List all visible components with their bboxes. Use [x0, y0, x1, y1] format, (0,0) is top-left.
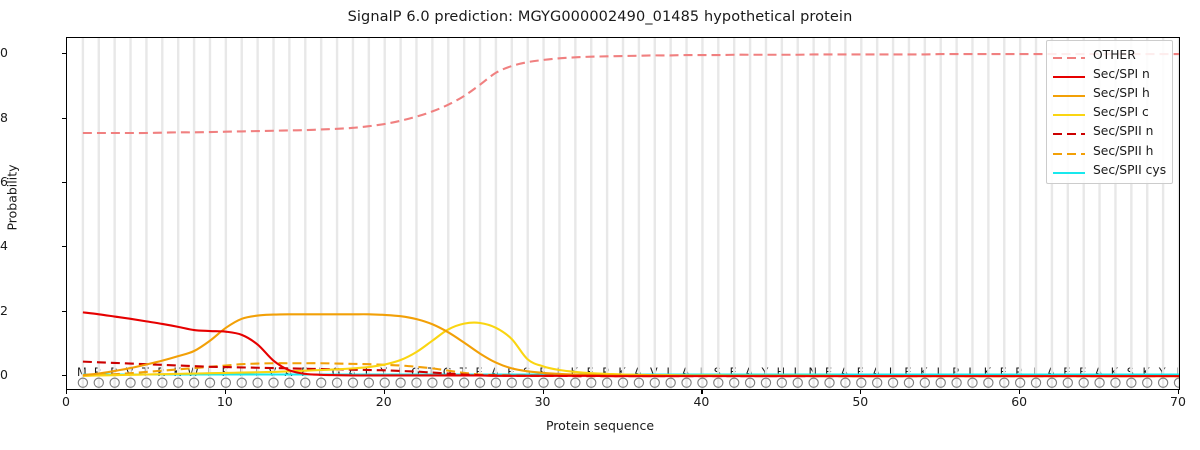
x-tick-mark	[225, 390, 226, 394]
x-tick-label: 50	[830, 394, 890, 409]
chart-title: SignalP 6.0 prediction: MGYG000002490_01…	[0, 9, 1200, 25]
legend-item[interactable]: Sec/SPII h	[1052, 141, 1166, 160]
x-tick-label: 70	[1148, 394, 1200, 409]
legend-label: Sec/SPI h	[1093, 86, 1150, 100]
legend-item[interactable]: Sec/SPII n	[1052, 122, 1166, 141]
series-line	[83, 314, 1179, 376]
x-tick-mark	[543, 390, 544, 394]
legend-label: OTHER	[1093, 48, 1136, 62]
legend-swatch-icon	[1052, 68, 1086, 80]
gridlines	[83, 38, 1179, 389]
legend-item[interactable]: Sec/SPI n	[1052, 64, 1166, 83]
x-tick-label: 10	[195, 394, 255, 409]
signalp-prediction-figure: SignalP 6.0 prediction: MGYG000002490_01…	[0, 0, 1200, 450]
series-line	[83, 54, 1179, 133]
x-tick-mark	[701, 390, 702, 394]
legend-swatch-icon	[1052, 145, 1086, 157]
series-line	[83, 323, 1179, 377]
legend-item[interactable]: Sec/SPII cys	[1052, 160, 1166, 179]
legend-label: Sec/SPII cys	[1093, 163, 1166, 177]
y-tick-label: 0.4	[0, 238, 8, 253]
series-paths	[83, 54, 1179, 376]
legend-item[interactable]: OTHER	[1052, 45, 1166, 64]
x-tick-mark	[1178, 390, 1179, 394]
x-tick-mark	[384, 390, 385, 394]
x-tick-label: 0	[36, 394, 96, 409]
y-tick-label: 0.2	[0, 303, 8, 318]
y-tick-label: 0.0	[0, 367, 8, 382]
x-tick-label: 40	[671, 394, 731, 409]
x-tick-mark	[860, 390, 861, 394]
series-line	[83, 312, 1179, 376]
legend-swatch-icon	[1052, 125, 1086, 137]
legend-swatch-icon	[1052, 106, 1086, 118]
y-tick-label: 0.6	[0, 174, 8, 189]
x-tick-label: 60	[989, 394, 1049, 409]
y-tick-label: 0.8	[0, 110, 8, 125]
legend-label: Sec/SPI c	[1093, 105, 1149, 119]
legend-label: Sec/SPII n	[1093, 124, 1153, 138]
x-tick-label: 30	[513, 394, 573, 409]
x-tick-label: 20	[354, 394, 414, 409]
legend-item[interactable]: Sec/SPI c	[1052, 103, 1166, 122]
legend-label: Sec/SPI n	[1093, 67, 1150, 81]
x-tick-mark	[66, 390, 67, 394]
legend-item[interactable]: Sec/SPI h	[1052, 83, 1166, 102]
plot-area	[66, 37, 1180, 390]
plot-canvas	[67, 38, 1179, 389]
legend-label: Sec/SPII h	[1093, 144, 1153, 158]
legend[interactable]: OTHERSec/SPI nSec/SPI hSec/SPI cSec/SPII…	[1046, 40, 1173, 184]
residue-markers	[78, 378, 1179, 387]
legend-swatch-icon	[1052, 87, 1086, 99]
legend-swatch-icon	[1052, 164, 1086, 176]
x-axis-label: Protein sequence	[0, 418, 1200, 433]
legend-swatch-icon	[1052, 49, 1086, 61]
y-tick-label: 1.0	[0, 45, 8, 60]
x-tick-mark	[1019, 390, 1020, 394]
